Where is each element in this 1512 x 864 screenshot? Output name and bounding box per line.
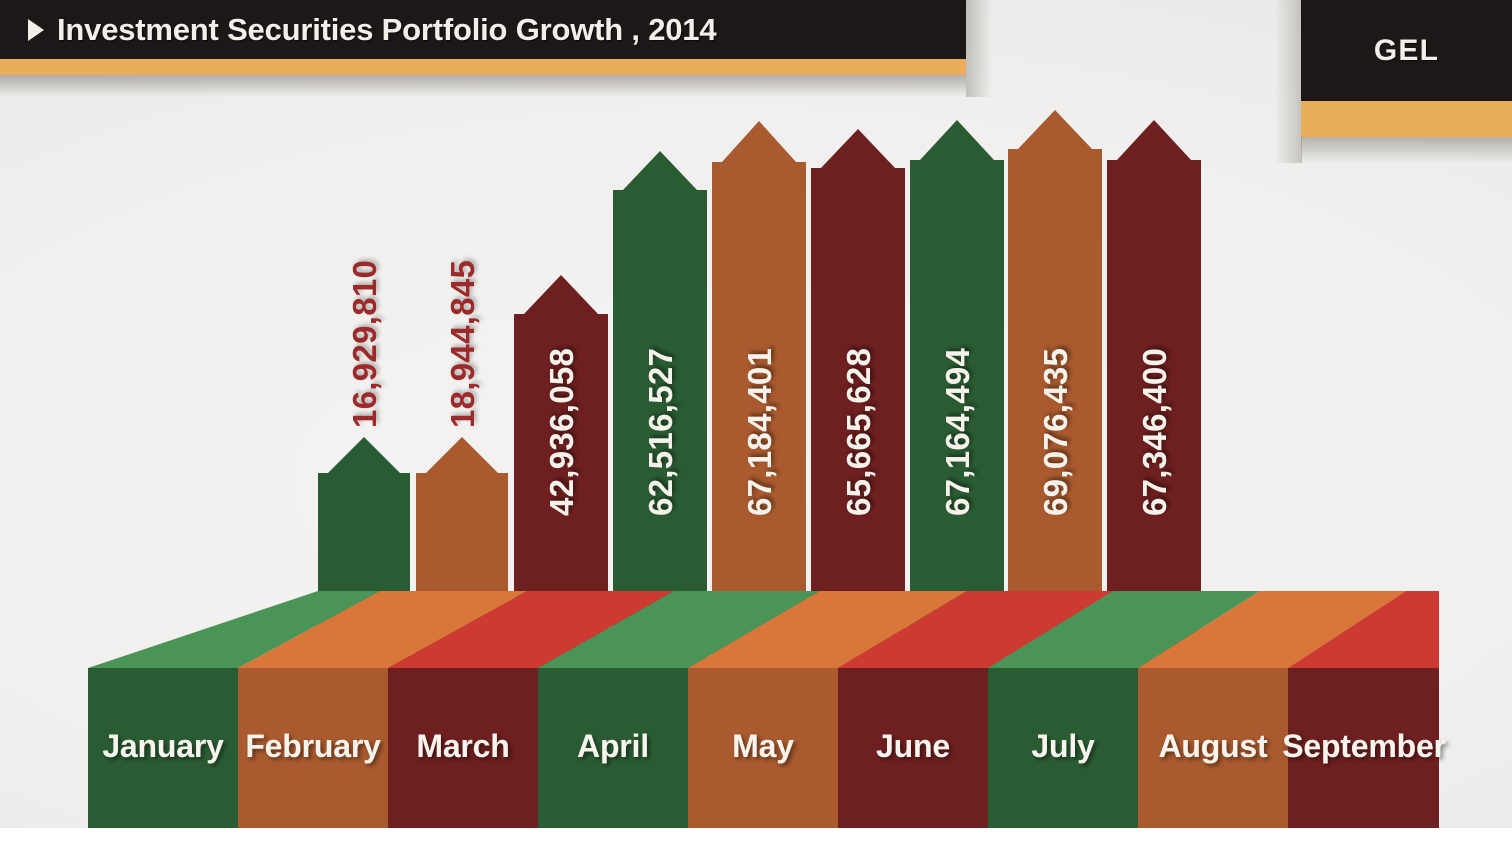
month-label-may: May	[732, 728, 794, 764]
month-label-january: January	[102, 728, 224, 764]
title-accent-underline	[0, 59, 966, 75]
page-title: Investment Securities Portfolio Growth ,…	[57, 12, 716, 48]
title-bar-side-shadow	[966, 0, 992, 97]
value-label-september: 67,346,400	[1136, 348, 1173, 516]
month-label-september: September	[1282, 728, 1446, 764]
gel-badge-side-shadow	[1275, 0, 1302, 163]
month-label-april: April	[577, 728, 649, 764]
value-label-january: 16,929,810	[346, 260, 383, 428]
triangle-right-icon	[28, 19, 44, 41]
bottom-white-strip	[0, 828, 1512, 864]
title-bar-drop-shadow	[0, 75, 966, 97]
value-label-june: 65,665,628	[840, 348, 877, 516]
month-label-august: August	[1158, 728, 1268, 764]
title-bar: Investment Securities Portfolio Growth ,…	[0, 0, 966, 59]
value-label-august: 69,076,435	[1037, 348, 1074, 516]
month-labels-layer: January February March April May June Ju…	[102, 728, 1445, 764]
month-label-july: July	[1031, 728, 1095, 764]
value-label-march: 42,936,058	[543, 348, 580, 516]
chart-screenshot: 16,929,810 18,944,845 42,936,058 62,516,…	[0, 0, 1512, 864]
month-label-february: February	[245, 728, 381, 764]
value-label-april: 62,516,527	[642, 348, 679, 516]
gel-badge-drop-shadow	[1301, 137, 1512, 163]
gel-accent-underline	[1301, 101, 1512, 137]
currency-badge: GEL	[1301, 0, 1512, 101]
value-label-may: 67,184,401	[741, 348, 778, 516]
base-top-faces	[88, 591, 1439, 668]
value-label-july: 67,164,494	[939, 347, 976, 516]
value-label-february: 18,944,845	[444, 260, 481, 428]
month-label-march: March	[416, 728, 509, 764]
month-label-june: June	[876, 728, 950, 764]
currency-badge-label: GEL	[1374, 34, 1439, 68]
